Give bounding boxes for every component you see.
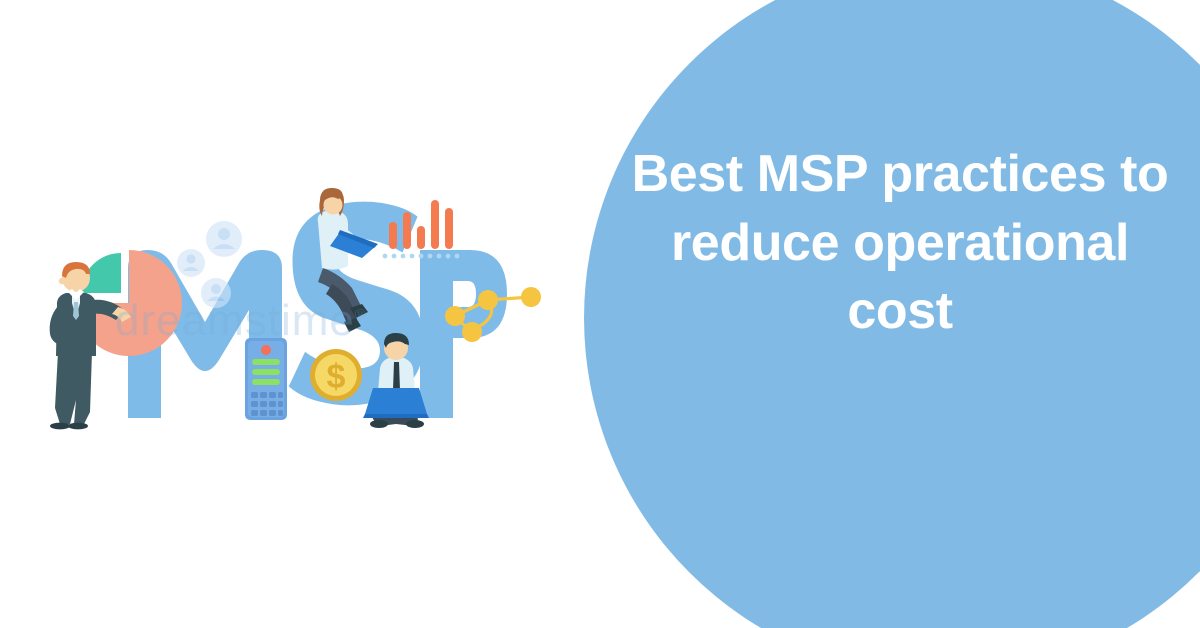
avatar-bubble-small (177, 249, 205, 277)
page-title: Best MSP practices to reduce operational… (620, 140, 1180, 346)
bar-chart-baseline-dots (383, 254, 460, 259)
server-device (245, 338, 287, 420)
avatar-bubble-medium (201, 278, 231, 308)
avatar-bubble-large (206, 221, 242, 257)
poster-canvas: Best MSP practices to reduce operational… (0, 0, 1200, 628)
dollar-coin: $ (310, 349, 362, 401)
msp-concept-illustration: $ (0, 0, 584, 628)
svg-text:$: $ (327, 358, 346, 396)
